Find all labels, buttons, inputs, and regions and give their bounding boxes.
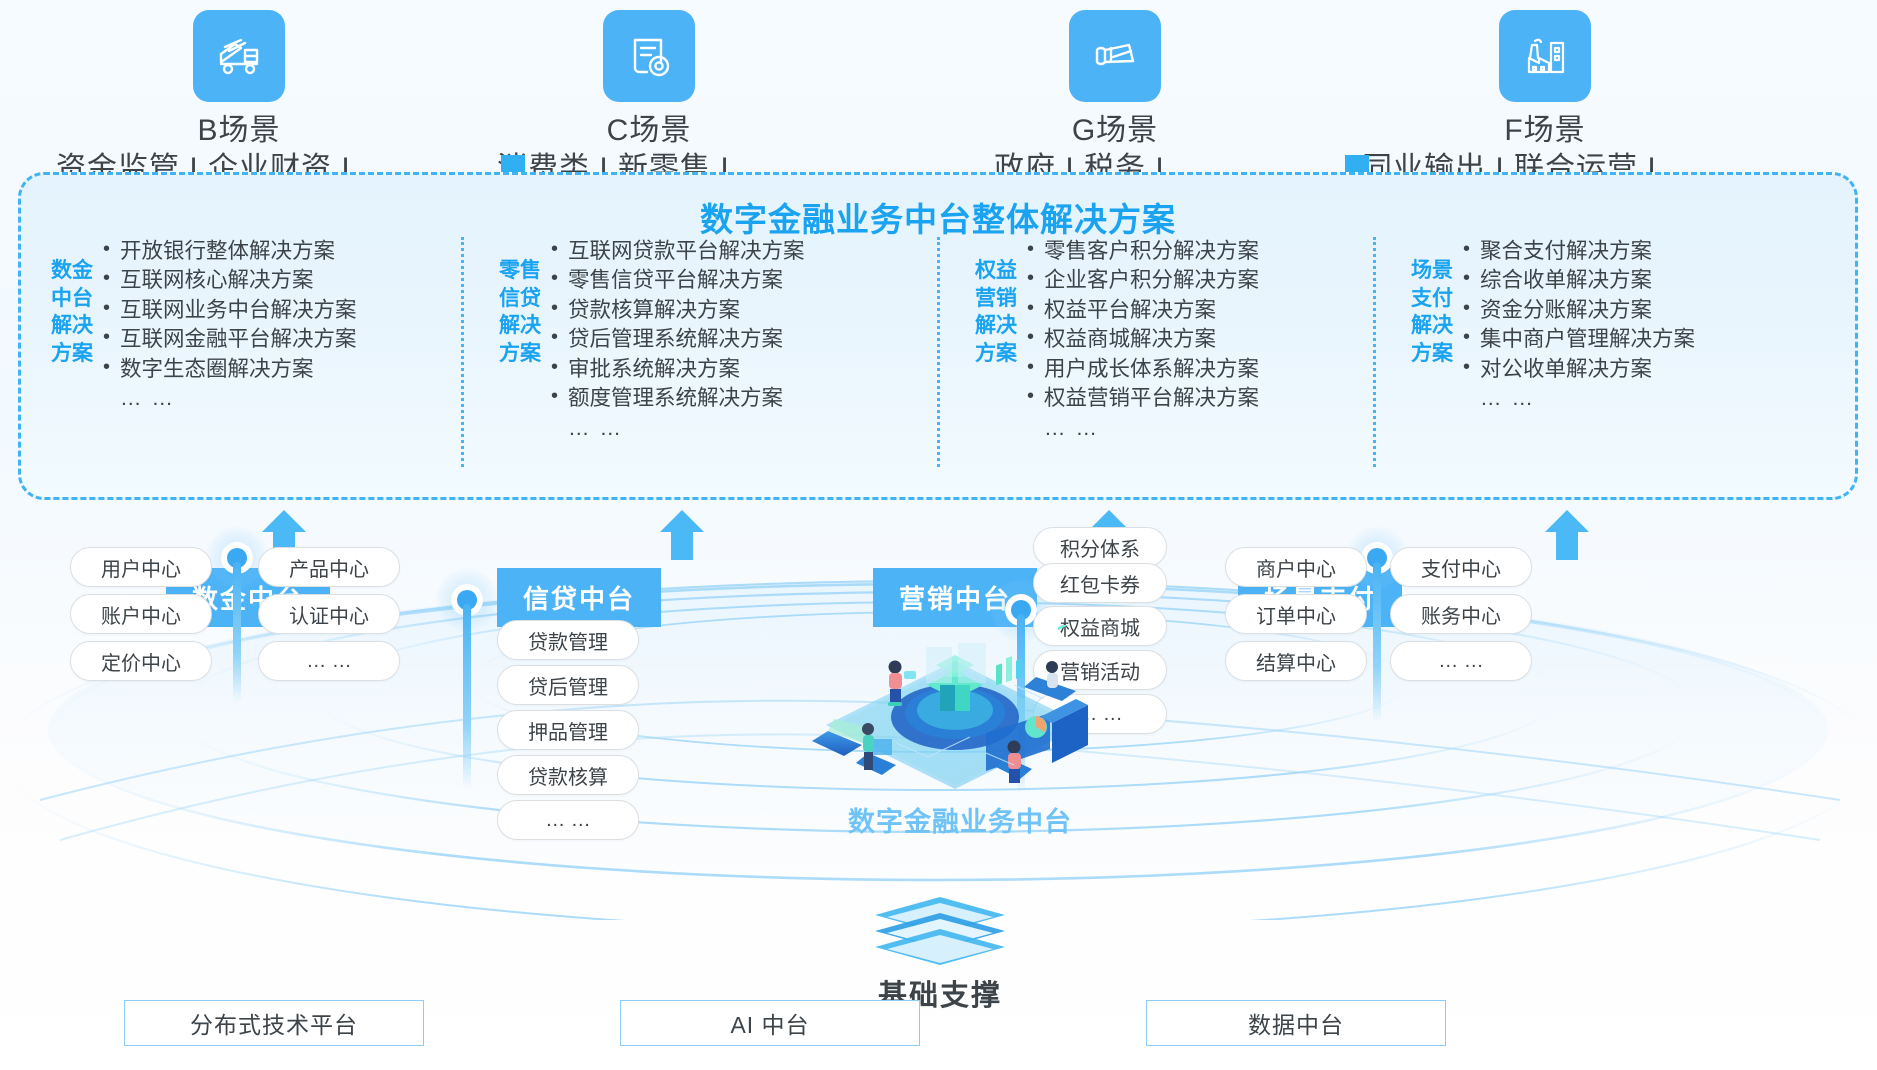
- base-box-distributed-tech[interactable]: 分布式技术平台: [124, 1000, 424, 1046]
- pill-pricing-center[interactable]: 定价中心: [70, 641, 212, 681]
- list-item: 审批系统解决方案: [551, 355, 805, 384]
- layered-stack-icon: [865, 895, 1015, 967]
- list-ellipsis: … …: [551, 414, 805, 443]
- list-item: 互联网业务中台解决方案: [103, 296, 357, 325]
- government-map-icon: [1069, 10, 1161, 102]
- pill-post-loan-management[interactable]: 贷后管理: [497, 665, 639, 705]
- list-item: 用户成长体系解决方案: [1027, 355, 1259, 384]
- list-item: 贷款核算解决方案: [551, 296, 805, 325]
- pill-more-credit[interactable]: … …: [497, 800, 639, 840]
- solutions-panel: 数字金融业务中台整体解决方案 数金 中台 解决 方案 开放银行整体解决方案 互联…: [18, 172, 1858, 500]
- pill-order-center[interactable]: 订单中心: [1225, 594, 1367, 634]
- solution-list: 聚合支付解决方案 综合收单解决方案 资金分账解决方案 集中商户管理解决方案 对公…: [1463, 237, 1695, 414]
- base-box-data-platform[interactable]: 数据中台: [1146, 1000, 1446, 1046]
- pill-product-center[interactable]: 产品中心: [258, 547, 400, 587]
- panel-title: 数字金融业务中台整体解决方案: [21, 193, 1855, 241]
- list-item: 额度管理系统解决方案: [551, 384, 805, 413]
- solution-column-rights-marketing: 权益 营销 解决 方案 零售客户积分解决方案 企业客户积分解决方案 权益平台解决…: [975, 237, 1375, 443]
- solution-column-digital-finance: 数金 中台 解决 方案 开放银行整体解决方案 互联网核心解决方案 互联网业务中台…: [51, 237, 451, 414]
- list-item: 权益商城解决方案: [1027, 325, 1259, 354]
- scenario-f: F场景 同业输出 I 联合运营 I ……: [1330, 10, 1760, 187]
- solution-list: 零售客户积分解决方案 企业客户积分解决方案 权益平台解决方案 权益商城解决方案 …: [1027, 237, 1259, 443]
- column-category: 数金 中台 解决 方案: [51, 237, 93, 368]
- scenario-g: G场景 政府 I 税务 I ……: [900, 10, 1330, 187]
- isometric-data-platform-illustration: [800, 625, 1110, 805]
- list-item: 零售信贷平台解决方案: [551, 266, 805, 295]
- document-seal-icon: [603, 10, 695, 102]
- scenario-b: B场景 资金监管 I 企业财资 I ……: [24, 10, 454, 187]
- pill-auth-center[interactable]: 认证中心: [258, 594, 400, 634]
- scenario-title: G场景: [900, 112, 1330, 150]
- scenario-title: F场景: [1330, 112, 1760, 150]
- list-ellipsis: … …: [103, 384, 357, 413]
- list-item: 互联网核心解决方案: [103, 266, 357, 295]
- list-item: 互联网贷款平台解决方案: [551, 237, 805, 266]
- pill-more-digital-finance[interactable]: … …: [258, 641, 400, 681]
- list-ellipsis: … …: [1463, 384, 1695, 413]
- list-item: 对公收单解决方案: [1463, 355, 1695, 384]
- list-item: 资金分账解决方案: [1463, 296, 1695, 325]
- solution-column-scene-payment: 场景 支付 解决 方案 聚合支付解决方案 综合收单解决方案 资金分账解决方案 集…: [1411, 237, 1811, 414]
- column-category: 场景 支付 解决 方案: [1411, 237, 1453, 368]
- list-item: 聚合支付解决方案: [1463, 237, 1695, 266]
- center-platform-label: 数字金融业务中台: [800, 800, 1120, 839]
- truck-cargo-icon: [193, 10, 285, 102]
- list-item: 贷后管理系统解决方案: [551, 325, 805, 354]
- scenario-title: C场景: [434, 112, 864, 150]
- list-item: 数字生态圈解决方案: [103, 355, 357, 384]
- pill-account-center[interactable]: 账户中心: [70, 594, 212, 634]
- pill-loan-management[interactable]: 贷款管理: [497, 620, 639, 660]
- column-divider-2: [937, 237, 940, 467]
- list-item: 开放银行整体解决方案: [103, 237, 357, 266]
- diagram-canvas: B场景 资金监管 I 企业财资 I …… C场景 消费类 I 新零售 I …… …: [0, 0, 1877, 1070]
- list-item: 综合收单解决方案: [1463, 266, 1695, 295]
- list-item: 权益营销平台解决方案: [1027, 384, 1259, 413]
- platform-label-credit[interactable]: 信贷中台: [497, 568, 661, 627]
- list-ellipsis: … …: [1027, 414, 1259, 443]
- factory-building-icon: [1499, 10, 1591, 102]
- list-item: 权益平台解决方案: [1027, 296, 1259, 325]
- scenario-title: B场景: [24, 112, 454, 150]
- column-divider-1: [461, 237, 464, 467]
- solution-column-retail-credit: 零售 信贷 解决 方案 互联网贷款平台解决方案 零售信贷平台解决方案 贷款核算解…: [499, 237, 929, 443]
- list-item: 集中商户管理解决方案: [1463, 325, 1695, 354]
- pill-merchant-center[interactable]: 商户中心: [1225, 547, 1367, 587]
- pill-points-system[interactable]: 积分体系: [1033, 527, 1167, 567]
- pill-accounting-center[interactable]: 账务中心: [1390, 594, 1532, 634]
- list-item: 零售客户积分解决方案: [1027, 237, 1259, 266]
- pill-more-scene-payment[interactable]: … …: [1390, 641, 1532, 681]
- column-category: 权益 营销 解决 方案: [975, 237, 1017, 368]
- list-item: 企业客户积分解决方案: [1027, 266, 1259, 295]
- pill-loan-accounting[interactable]: 贷款核算: [497, 755, 639, 795]
- pill-collateral-management[interactable]: 押品管理: [497, 710, 639, 750]
- pill-redpacket-coupon[interactable]: 红包卡券: [1033, 563, 1167, 603]
- solution-list: 互联网贷款平台解决方案 零售信贷平台解决方案 贷款核算解决方案 贷后管理系统解决…: [551, 237, 805, 443]
- base-box-ai-platform[interactable]: AI 中台: [620, 1000, 920, 1046]
- pill-settlement-center[interactable]: 结算中心: [1225, 641, 1367, 681]
- solution-list: 开放银行整体解决方案 互联网核心解决方案 互联网业务中台解决方案 互联网金融平台…: [103, 237, 357, 414]
- list-item: 互联网金融平台解决方案: [103, 325, 357, 354]
- pill-user-center[interactable]: 用户中心: [70, 547, 212, 587]
- column-category: 零售 信贷 解决 方案: [499, 237, 541, 368]
- pill-payment-center[interactable]: 支付中心: [1390, 547, 1532, 587]
